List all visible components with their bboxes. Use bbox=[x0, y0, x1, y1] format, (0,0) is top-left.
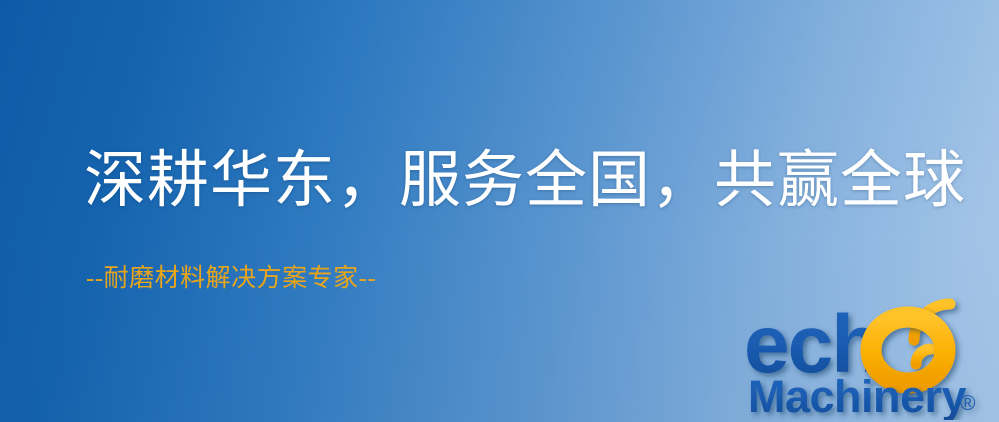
logo-tagline: Machinery ® bbox=[748, 371, 976, 420]
page-subtitle: --耐磨材料解决方案专家-- bbox=[86, 266, 376, 291]
svg-text:Machinery: Machinery bbox=[748, 371, 967, 420]
registered-trademark-symbol: ® bbox=[960, 392, 976, 415]
company-logo[interactable]: ech Machinery ® bbox=[744, 296, 994, 420]
page-title: 深耕华东，服务全国，共赢全球 bbox=[84, 150, 966, 212]
logo-artwork: ech Machinery ® bbox=[744, 296, 994, 420]
hero-banner: 深耕华东，服务全国，共赢全球 --耐磨材料解决方案专家-- bbox=[0, 0, 999, 422]
